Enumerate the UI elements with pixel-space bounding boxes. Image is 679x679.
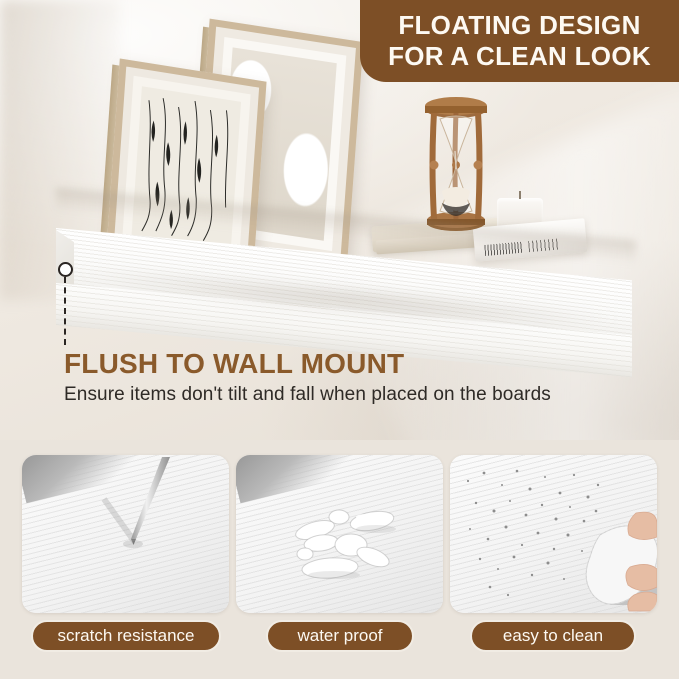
- feature-panels: [0, 455, 679, 615]
- callout-leader-line-icon: [64, 277, 66, 345]
- callout-headline: FLUSH TO WALL MOUNT: [64, 348, 404, 380]
- badge-easy-to-clean[interactable]: easy to clean: [470, 620, 636, 652]
- feature-strip: scratch resistance water proof easy to c…: [0, 440, 679, 679]
- banner-line-2: FOR A CLEAN LOOK: [388, 41, 651, 72]
- easy-to-clean-photo: [450, 455, 657, 613]
- scratch-resistance-photo: [22, 455, 229, 613]
- water-proof-photo: [236, 455, 443, 613]
- hourglass: [418, 95, 494, 235]
- floating-design-banner: FLOATING DESIGN FOR A CLEAN LOOK: [360, 0, 679, 82]
- badge-scratch-resistance[interactable]: scratch resistance: [31, 620, 221, 652]
- banner-line-1: FLOATING DESIGN: [398, 10, 640, 41]
- product-feature-infographic: FLOATING DESIGN FOR A CLEAN LOOK FLUSH T…: [0, 0, 679, 679]
- badge-water-proof[interactable]: water proof: [266, 620, 414, 652]
- callout-subheadline: Ensure items don't tilt and fall when pl…: [64, 384, 551, 406]
- feature-badges: scratch resistance water proof easy to c…: [0, 620, 679, 660]
- callout-dot-icon: [58, 262, 73, 277]
